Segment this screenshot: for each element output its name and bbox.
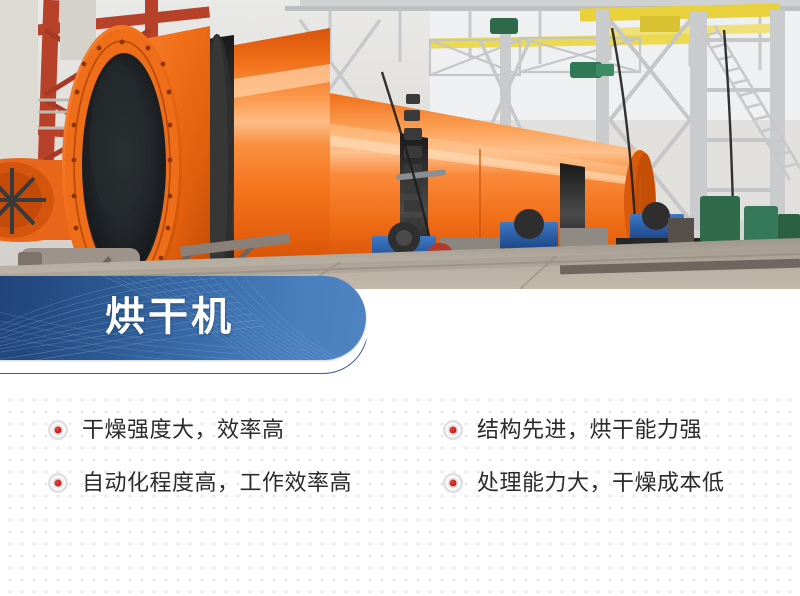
product-promo-card: 烘干机 干燥强度大，效率高 结构先进，烘干能力强 自动化程度高，工作效率高 处理… bbox=[0, 0, 800, 596]
title-banner: 烘干机 bbox=[0, 276, 400, 386]
banner-body: 烘干机 bbox=[0, 276, 366, 360]
target-dot-icon bbox=[48, 420, 68, 440]
product-photo bbox=[0, 0, 800, 289]
target-dot-icon bbox=[48, 473, 68, 493]
page-title: 烘干机 bbox=[105, 297, 234, 337]
features-grid: 干燥强度大，效率高 结构先进，烘干能力强 自动化程度高，工作效率高 处理能力大，… bbox=[0, 404, 800, 510]
feature-item-3: 自动化程度高，工作效率高 bbox=[0, 470, 410, 496]
feature-label: 自动化程度高，工作效率高 bbox=[82, 470, 352, 496]
feature-item-4: 处理能力大，干燥成本低 bbox=[410, 470, 800, 496]
features-section: 干燥强度大，效率高 结构先进，烘干能力强 自动化程度高，工作效率高 处理能力大，… bbox=[0, 390, 800, 596]
feature-label: 干燥强度大，效率高 bbox=[82, 417, 285, 443]
feature-label: 处理能力大，干燥成本低 bbox=[477, 470, 725, 496]
target-dot-icon bbox=[443, 420, 463, 440]
feature-item-1: 干燥强度大，效率高 bbox=[0, 417, 410, 443]
feature-item-2: 结构先进，烘干能力强 bbox=[410, 417, 800, 443]
dryer-machine-illustration bbox=[0, 0, 800, 289]
feature-label: 结构先进，烘干能力强 bbox=[477, 417, 702, 443]
target-dot-icon bbox=[443, 473, 463, 493]
